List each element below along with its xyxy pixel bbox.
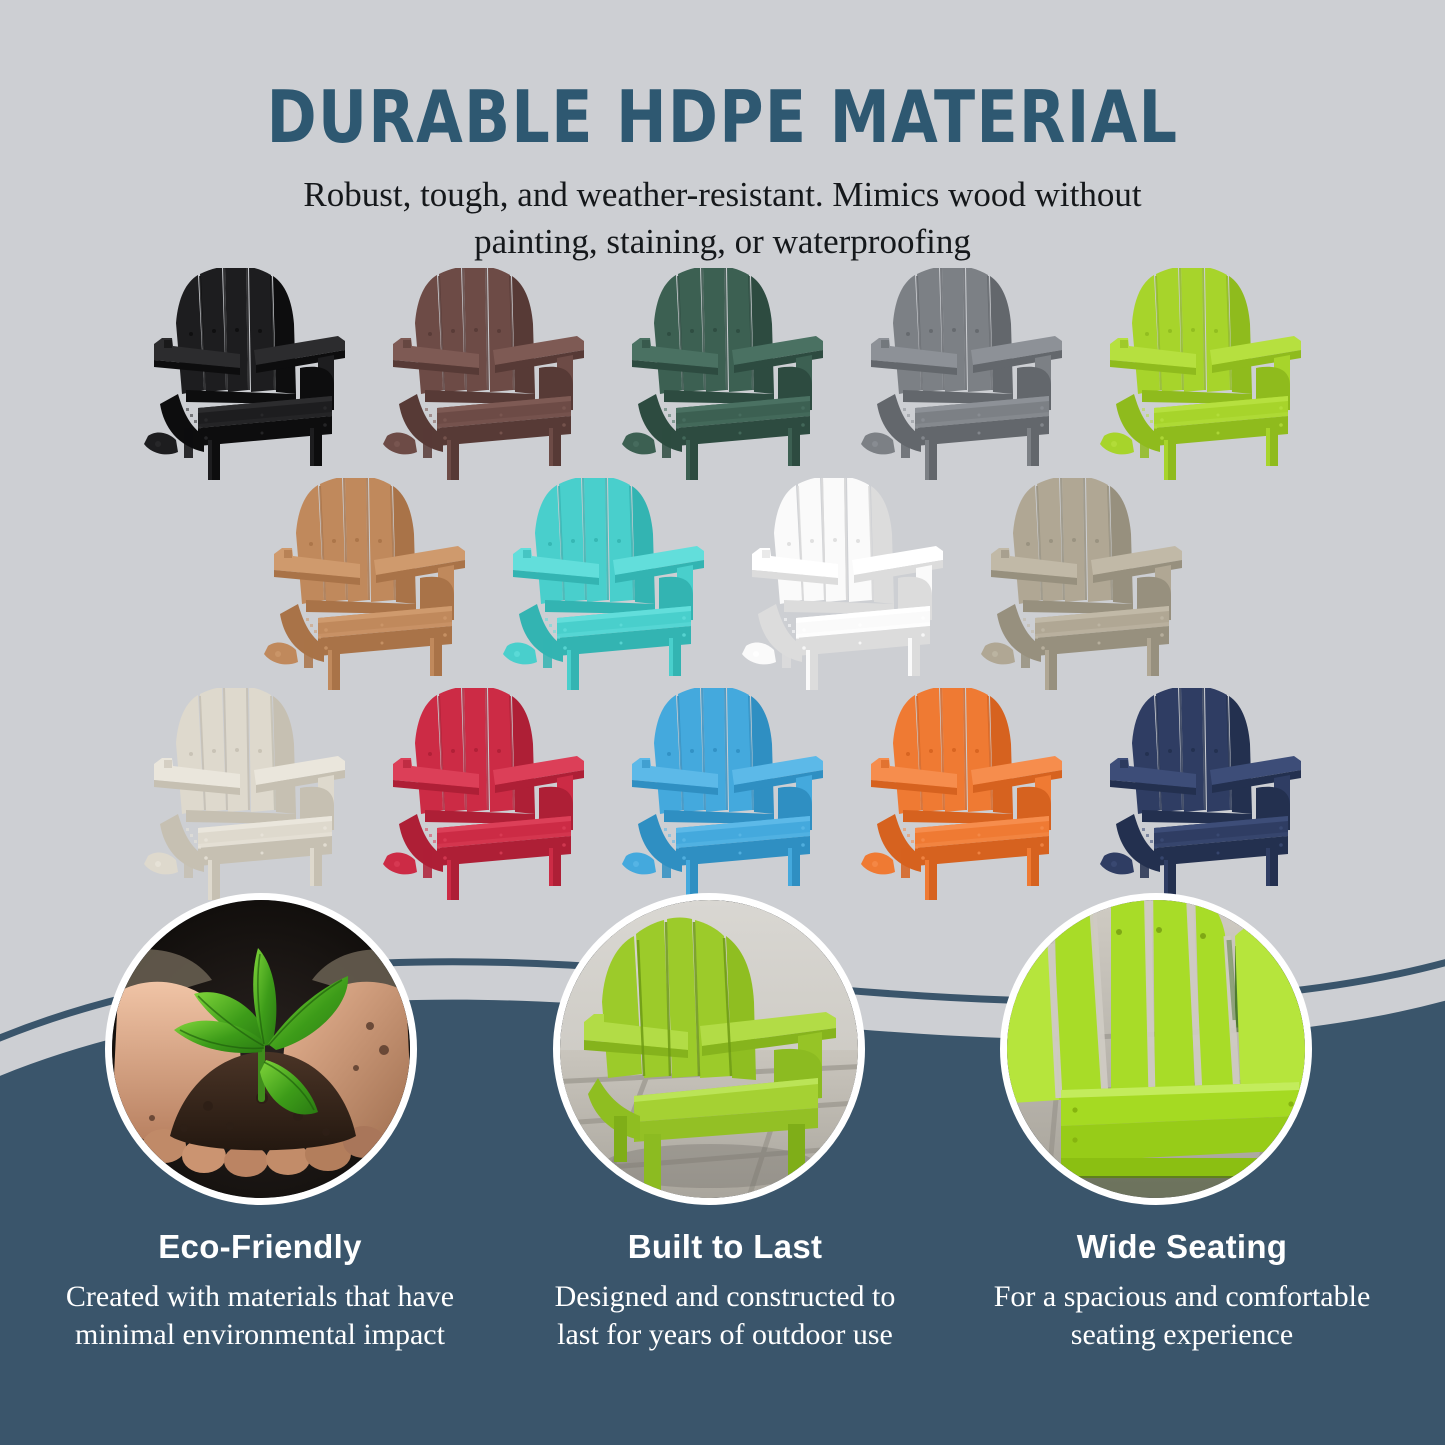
- feature-body-line-2: minimal environmental impact: [20, 1316, 500, 1354]
- feature-captions: Eco-Friendly Created with materials that…: [0, 0, 1445, 1445]
- feature-heading: Built to Last: [485, 1228, 965, 1266]
- feature-heading: Wide Seating: [942, 1228, 1422, 1266]
- feature-body: Designed and constructed to last for yea…: [485, 1278, 965, 1354]
- feature-body-line-1: For a spacious and comfortable: [942, 1278, 1422, 1316]
- feature-heading: Eco-Friendly: [20, 1228, 500, 1266]
- feature-built-to-last: Built to Last Designed and constructed t…: [485, 1228, 965, 1354]
- feature-body-line-1: Designed and constructed to: [485, 1278, 965, 1316]
- feature-body-line-1: Created with materials that have: [20, 1278, 500, 1316]
- feature-body: Created with materials that have minimal…: [20, 1278, 500, 1354]
- feature-wide-seating: Wide Seating For a spacious and comforta…: [942, 1228, 1422, 1354]
- feature-body-line-2: seating experience: [942, 1316, 1422, 1354]
- feature-body-line-2: last for years of outdoor use: [485, 1316, 965, 1354]
- feature-body: For a spacious and comfortable seating e…: [942, 1278, 1422, 1354]
- feature-eco-friendly: Eco-Friendly Created with materials that…: [20, 1228, 500, 1354]
- infographic-stage: DURABLE HDPE MATERIAL Robust, tough, and…: [0, 0, 1445, 1445]
